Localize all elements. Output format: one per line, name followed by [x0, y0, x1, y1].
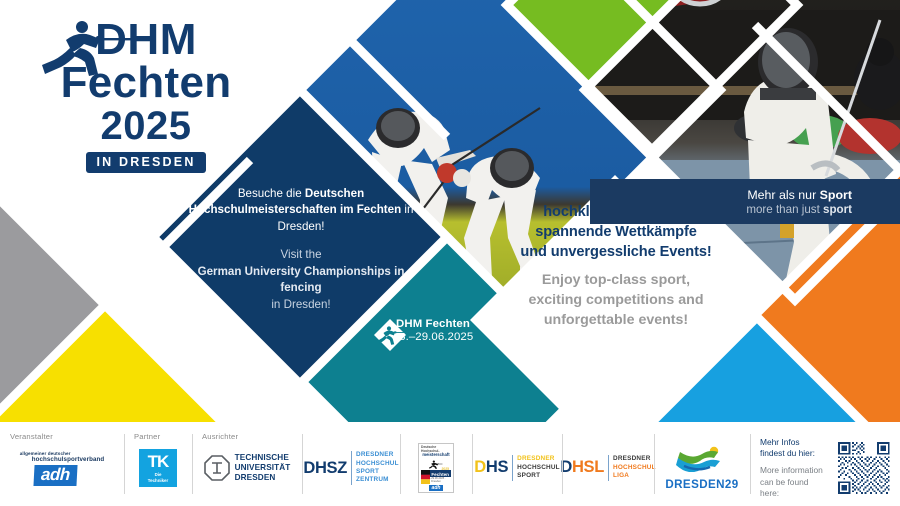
footer-cell-organiser: Veranstalter allgemeiner deutscher hochs…: [0, 422, 124, 506]
footer-caption-organiser: Veranstalter: [10, 432, 53, 441]
dhsl-mark: DHSL: [560, 458, 604, 477]
dhsl-logo[interactable]: DHSL DRESDNER HOCHSCHUL LIGA: [572, 422, 644, 506]
logo-city-badge: IN DRESDEN: [86, 152, 205, 173]
sponsor-footer: Veranstalter allgemeiner deutscher hochs…: [0, 422, 900, 506]
tk-subtitle: Die Techniker: [148, 472, 168, 482]
fencer-diamond-icon: [373, 318, 407, 352]
more-info-text: Mehr Infos findest du hier: More informa…: [760, 437, 829, 500]
tk-letters: TK: [148, 453, 169, 470]
german-flag-icon: [421, 470, 430, 484]
poster-band-text: Fechten: [431, 472, 449, 477]
dhsz-mark: DHSZ: [303, 459, 347, 478]
fencer-icon: [36, 18, 156, 78]
dhsl-lines: DRESDNER HOCHSCHUL LIGA: [613, 455, 656, 480]
footer-cell-partner: Partner TK Die Techniker: [124, 422, 192, 506]
adh-top-line-2: hochschulsportverband: [32, 456, 105, 463]
logo-line-year: 2025: [36, 106, 256, 147]
more-info-english: More information can be found here:: [760, 465, 829, 499]
dhm-poster-logo[interactable]: Deutsche Hochschul- meisterschaft: [410, 422, 462, 506]
dhsz-lines: DRESDNER HOCHSCHUL SPORT ZENTRUM: [356, 451, 399, 485]
footer-caption-host: Ausrichter: [202, 432, 238, 441]
dhsl-divider: [608, 455, 609, 480]
event-logo: DHM Fechten 2025 IN DRESDEN: [36, 18, 256, 173]
footer-cell-more-info: Mehr Infos findest du hier: More informa…: [750, 422, 900, 506]
dhs-logo[interactable]: DHS DRESDNER HOCHSCHUL SPORT: [482, 422, 552, 506]
tud-octagon-icon: [204, 455, 230, 481]
poster-year: 2025: [441, 467, 449, 471]
footer-cell-dhsz: DHSZ DRESDNER HOCHSCHUL SPORT ZENTRUM: [302, 422, 400, 506]
more-than-sport-english: more than just sport: [746, 203, 852, 216]
dresden29-wordmark: DRESDEN29: [665, 478, 738, 491]
dhs-lines: DRESDNER HOCHSCHUL SPORT: [517, 455, 560, 480]
footer-cell-dhsl: DHSL DRESDNER HOCHSCHUL LIGA: [562, 422, 654, 506]
tu-dresden-text: TECHNISCHE UNIVERSITÄT DRESDEN: [235, 453, 291, 482]
more-info-block: Mehr Infos findest du hier: More informa…: [760, 422, 890, 506]
footer-cell-poster: Deutsche Hochschul- meisterschaft: [400, 422, 472, 506]
footer-cell-dhs: DHS DRESDNER HOCHSCHUL SPORT: [472, 422, 562, 506]
invitation-german: Besuche die Deutschen Hochschulmeistersc…: [183, 186, 419, 235]
dresden29-logo[interactable]: DRESDEN29: [664, 422, 740, 506]
poster-title-2: meisterschaft: [422, 453, 449, 458]
poster-root: DHM Fechten 2025 IN DRESDEN Besuche die …: [0, 0, 900, 506]
dhsz-divider: [351, 451, 352, 485]
dhs-divider: [512, 455, 513, 480]
adh-wordmark: adh: [33, 465, 77, 486]
invitation-english: Visit the German University Championship…: [183, 247, 419, 313]
qr-code-icon[interactable]: [838, 442, 890, 494]
poster-band: 2025 Fechten: [421, 470, 451, 478]
more-info-german: Mehr Infos findest du hier:: [760, 437, 829, 460]
dhsz-logo[interactable]: DHSZ DRESDNER HOCHSCHUL SPORT ZENTRUM: [312, 422, 390, 506]
poster-adh-mark: adh: [429, 485, 444, 491]
footer-caption-partner: Partner: [134, 432, 160, 441]
dhs-mark: DHS: [474, 458, 508, 477]
footer-cell-host: Ausrichter TECHNISCHE UNIVERSITÄT DRESDE…: [192, 422, 302, 506]
more-than-sport-german: Mehr als nur Sport: [747, 188, 852, 202]
hero-mosaic: DHM Fechten 2025 IN DRESDEN Besuche die …: [0, 0, 900, 422]
dresden29-swoosh-icon: [674, 446, 730, 472]
more-than-sport-strip: Mehr als nur Sport more than just sport: [590, 179, 900, 224]
footer-cell-dresden29: DRESDEN29: [654, 422, 750, 506]
invitation-panel: Besuche die Deutschen Hochschulmeistersc…: [183, 186, 419, 313]
claim-english: Enjoy top-class sport, exciting competit…: [495, 271, 737, 330]
event-date-panel: DHM Fechten 28.–29.06.2025: [373, 318, 493, 343]
